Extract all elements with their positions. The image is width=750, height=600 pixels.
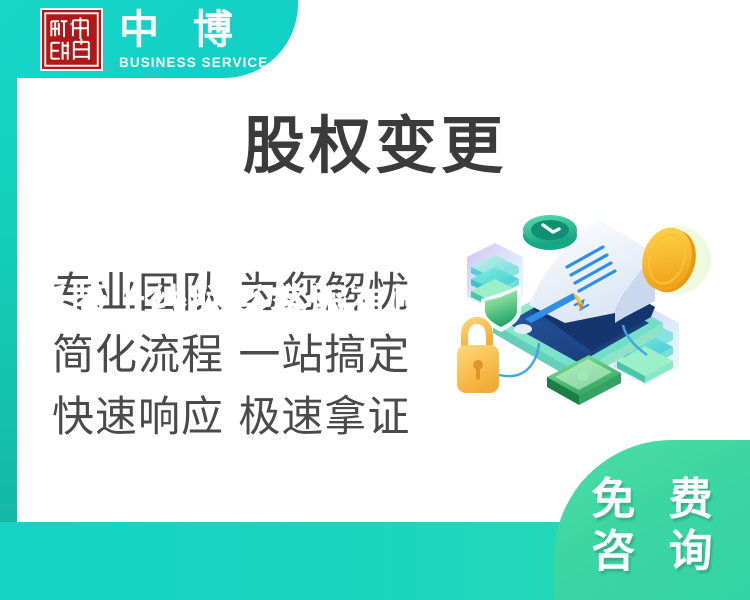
brand-name-en: BUSINESS SERVICE <box>119 55 268 70</box>
free-consult-badge[interactable]: 免 费 咨 询 <box>554 440 750 600</box>
isometric-contract-illustration <box>455 205 720 435</box>
brand-name-cn: 中 博 <box>119 10 268 50</box>
brand-header: 中 博 BUSINESS SERVICE <box>40 8 268 71</box>
slogan-line: 快速响应 极速拿证 <box>52 386 410 448</box>
badge-line-2: 咨 询 <box>582 526 721 578</box>
badge-line-1: 免 费 <box>582 474 721 526</box>
slogan-line: 简化流程 一站搞定 <box>52 324 410 386</box>
company-seal-logo <box>40 8 103 71</box>
bottom-bar-text: 新版上线联系客服有惊喜 <box>30 273 470 328</box>
page-title: 股权变更 <box>0 112 750 180</box>
promo-banner: 中 博 BUSINESS SERVICE 股权变更 专业团队 为您解忧 简化流程… <box>0 0 750 600</box>
brand-wordmark: 中 博 BUSINESS SERVICE <box>119 10 268 70</box>
